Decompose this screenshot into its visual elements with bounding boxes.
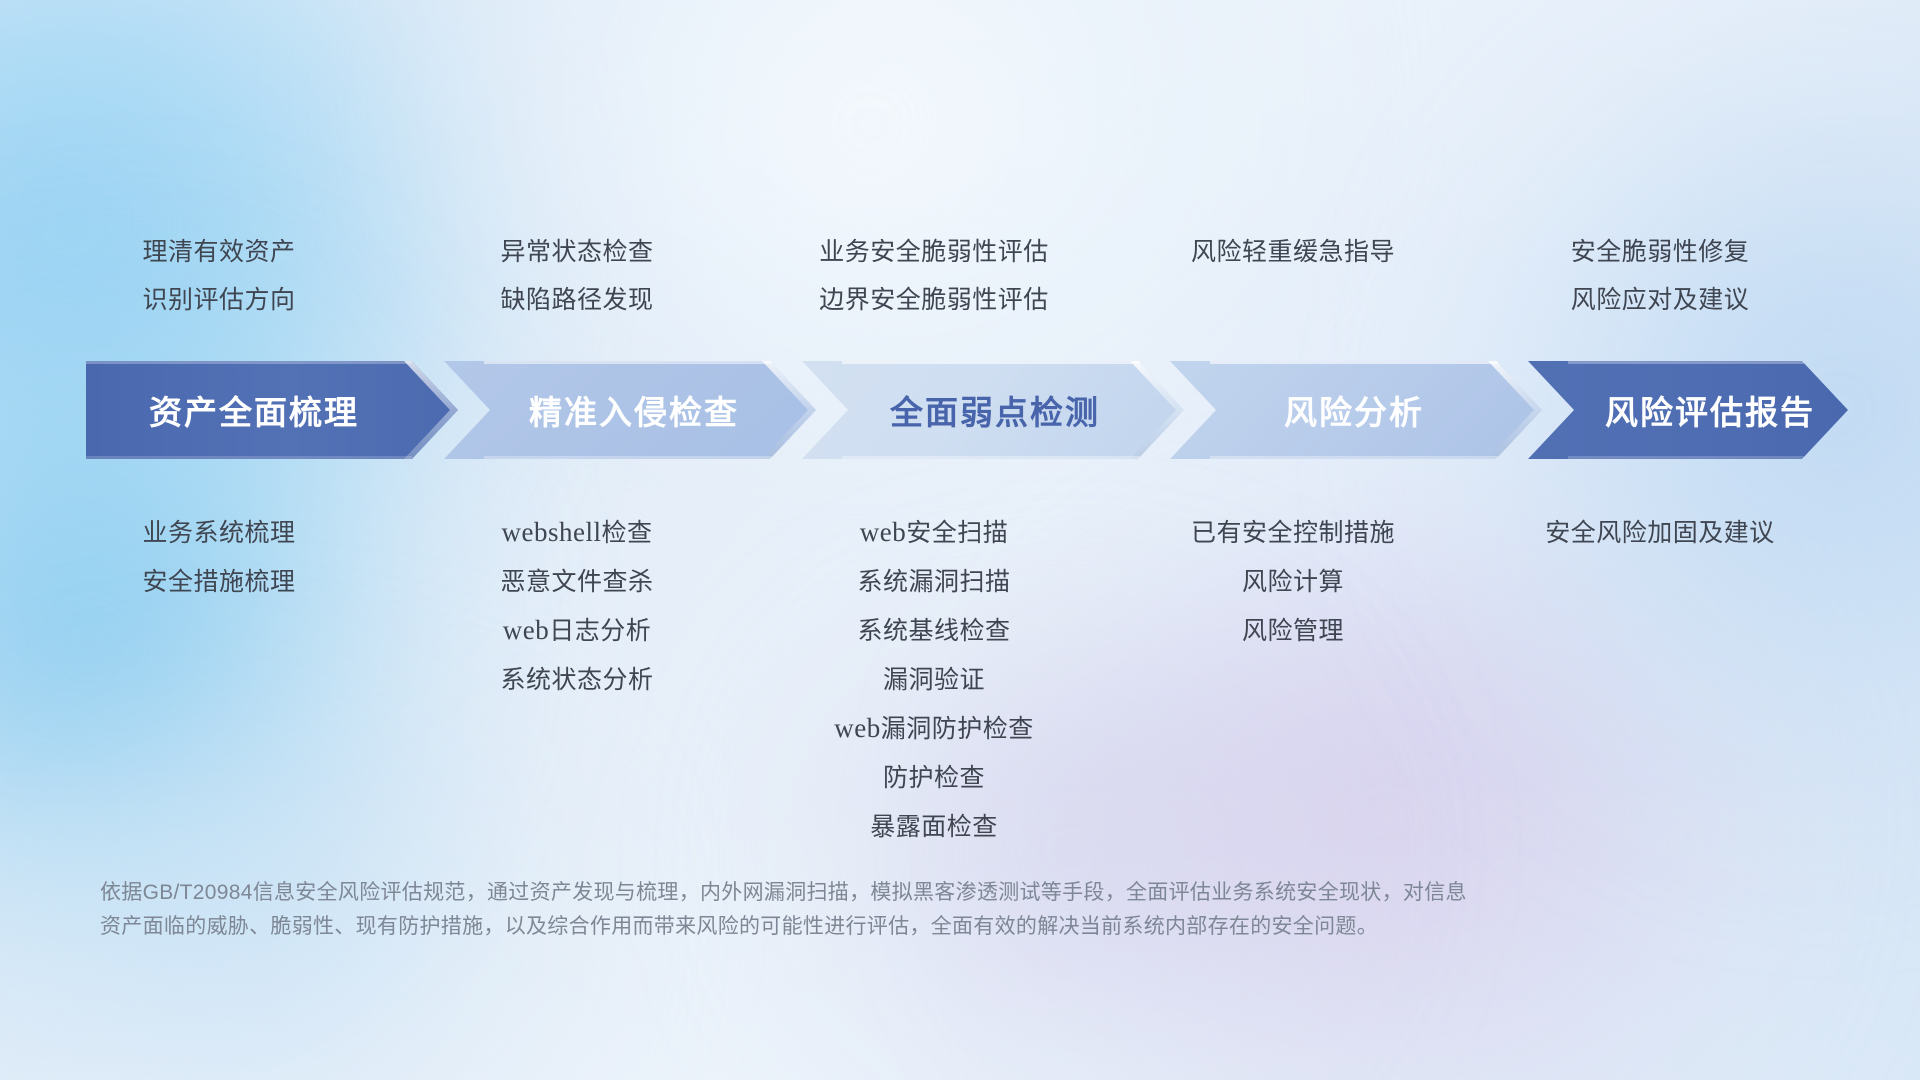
bottom-labels-intrusion-check: webshell检查 恶意文件查杀 web日志分析 系统状态分析	[426, 508, 766, 851]
bottom-label-item: 风险计算	[1130, 557, 1456, 606]
top-label-row: 理清有效资产 识别评估方向 异常状态检查 缺陷路径发现 业务安全脆弱性评估 边界…	[86, 228, 1834, 324]
top-label-item: 边界安全脆弱性评估	[766, 276, 1102, 324]
process-chevron-banner: 资产全面梳理	[86, 361, 1848, 459]
bottom-label-item: 系统状态分析	[426, 655, 728, 704]
bottom-label-item: 恶意文件查杀	[426, 557, 728, 606]
bottom-label-item: 业务系统梳理	[86, 508, 352, 557]
bottom-labels-weakness-detection: web安全扫描 系统漏洞扫描 系统基线检查 漏洞验证 web漏洞防护检查 防护检…	[766, 508, 1116, 851]
top-labels-asset-inventory: 理清有效资产 识别评估方向	[86, 228, 426, 324]
bottom-label-item: 防护检查	[766, 753, 1102, 802]
chevron-stage-risk-report[interactable]: 风险评估报告	[1528, 361, 1848, 459]
bottom-label-item: 漏洞验证	[766, 655, 1102, 704]
slide-canvas: 理清有效资产 识别评估方向 异常状态检查 缺陷路径发现 业务安全脆弱性评估 边界…	[0, 0, 1920, 1080]
chevron-label: 全面弱点检测	[890, 386, 1100, 434]
chevron-stage-intrusion-check[interactable]: 精准入侵检查	[444, 361, 816, 459]
bottom-label-row: 业务系统梳理 安全措施梳理 webshell检查 恶意文件查杀 web日志分析 …	[86, 508, 1834, 851]
slide-content: 理清有效资产 识别评估方向 异常状态检查 缺陷路径发现 业务安全脆弱性评估 边界…	[0, 0, 1920, 1080]
bottom-label-item: 暴露面检查	[766, 802, 1102, 851]
top-label-item: 识别评估方向	[86, 276, 352, 324]
bottom-label-item: webshell检查	[426, 508, 728, 557]
bottom-label-item: web日志分析	[426, 606, 728, 655]
chevron-label: 资产全面梳理	[149, 386, 359, 434]
top-label-item: 异常状态检查	[426, 228, 728, 276]
bottom-label-item: 风险管理	[1130, 606, 1456, 655]
chevron-label: 精准入侵检查	[529, 386, 739, 434]
top-label-item: 缺陷路径发现	[426, 276, 728, 324]
footer-line-2: 资产面临的威胁、脆弱性、现有防护措施，以及综合作用而带来风险的可能性进行评估，全…	[100, 910, 1720, 944]
footer-description: 依据GB/T20984信息安全风险评估规范，通过资产发现与梳理，内外网漏洞扫描，…	[100, 876, 1720, 944]
bottom-label-item: 系统基线检查	[766, 606, 1102, 655]
bottom-label-item: 安全措施梳理	[86, 557, 352, 606]
top-label-item: 业务安全脆弱性评估	[766, 228, 1102, 276]
top-label-item: 安全脆弱性修复	[1486, 228, 1834, 276]
bottom-labels-risk-analysis: 已有安全控制措施 风险计算 风险管理	[1116, 508, 1456, 851]
footer-line-1: 依据GB/T20984信息安全风险评估规范，通过资产发现与梳理，内外网漏洞扫描，…	[100, 876, 1720, 910]
top-labels-intrusion-check: 异常状态检查 缺陷路径发现	[426, 228, 766, 324]
bottom-label-item: 已有安全控制措施	[1130, 508, 1456, 557]
top-label-item: 风险应对及建议	[1486, 276, 1834, 324]
top-label-item: 风险轻重缓急指导	[1130, 228, 1456, 276]
top-label-item: 理清有效资产	[86, 228, 352, 276]
bottom-label-item: web漏洞防护检查	[766, 704, 1102, 753]
chevron-stage-asset-inventory[interactable]: 资产全面梳理	[86, 361, 458, 459]
chevron-stage-risk-analysis[interactable]: 风险分析	[1170, 361, 1542, 459]
chevron-stage-weakness-detection[interactable]: 全面弱点检测	[802, 361, 1184, 459]
bottom-labels-risk-report: 安全风险加固及建议	[1456, 508, 1834, 851]
bottom-label-item: web安全扫描	[766, 508, 1102, 557]
bottom-labels-asset-inventory: 业务系统梳理 安全措施梳理	[86, 508, 426, 851]
bottom-label-item: 系统漏洞扫描	[766, 557, 1102, 606]
chevron-label: 风险评估报告	[1605, 386, 1815, 434]
top-labels-risk-analysis: 风险轻重缓急指导	[1116, 228, 1456, 324]
top-labels-weakness-detection: 业务安全脆弱性评估 边界安全脆弱性评估	[766, 228, 1116, 324]
top-labels-risk-report: 安全脆弱性修复 风险应对及建议	[1456, 228, 1834, 324]
chevron-label: 风险分析	[1284, 386, 1424, 434]
bottom-label-item: 安全风险加固及建议	[1486, 508, 1834, 557]
